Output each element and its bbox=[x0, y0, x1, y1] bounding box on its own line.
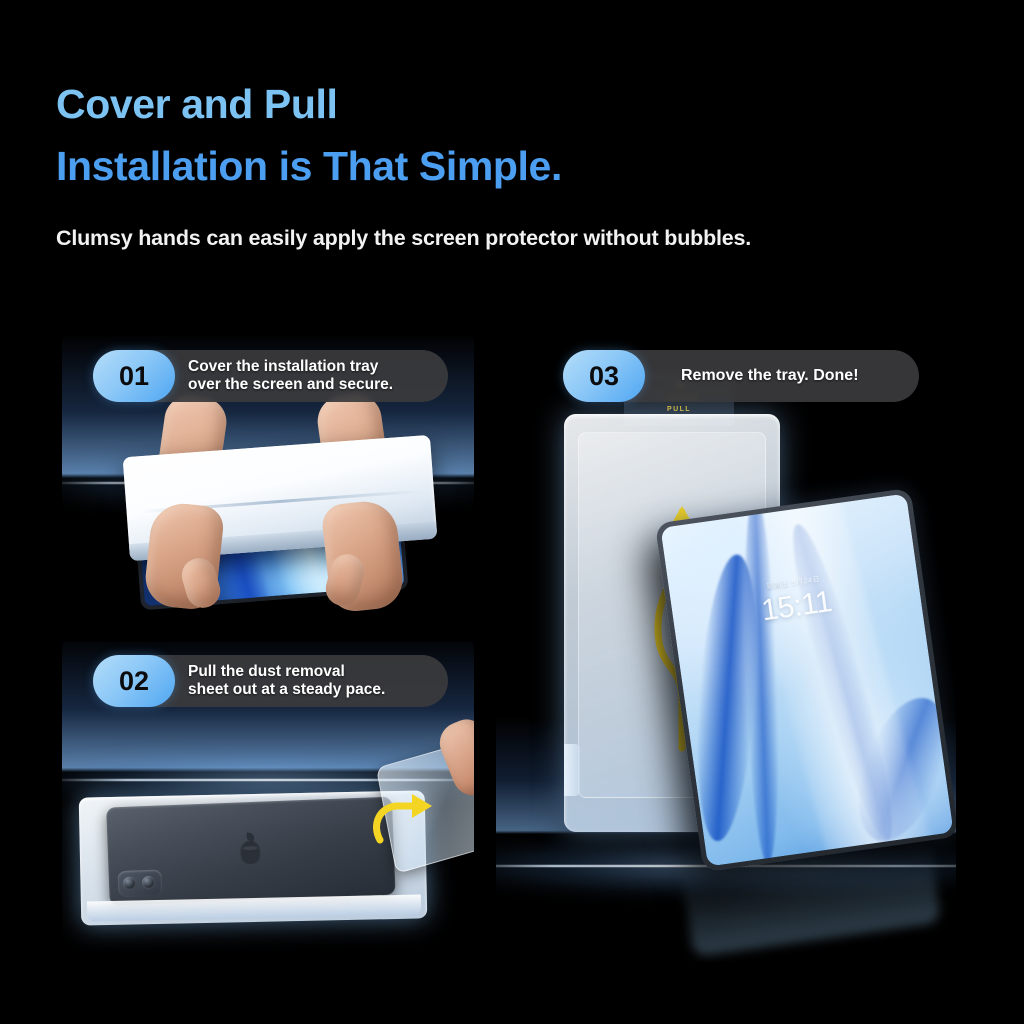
step-3-callout: 03 Remove the tray. Done! bbox=[563, 350, 919, 402]
tablet-device-step-3: 星期五 5月24日 15:11 bbox=[655, 488, 956, 872]
headline-line-1: Cover and Pull bbox=[56, 74, 562, 136]
step-1-line-2: over the screen and secure. bbox=[188, 376, 393, 394]
apple-logo-icon bbox=[239, 839, 261, 865]
camera-module-icon bbox=[118, 869, 163, 897]
step-2-line-2: sheet out at a steady pace. bbox=[188, 681, 385, 699]
step-1-callout: 01 Cover the installation tray over the … bbox=[93, 350, 448, 402]
step-3-image-panel: 一层保护膜 PULL baseus 星期五 5月24日 15:11 bbox=[496, 336, 956, 962]
step-1-number-badge: 01 bbox=[93, 350, 175, 402]
subtitle-text: Clumsy hands can easily apply the screen… bbox=[56, 226, 751, 251]
headline-block: Cover and Pull Installation is That Simp… bbox=[56, 74, 562, 197]
step-3-description: Remove the tray. Done! bbox=[645, 367, 859, 386]
headline-line-2: Installation is That Simple. bbox=[56, 136, 562, 198]
step-2-callout: 02 Pull the dust removal sheet out at a … bbox=[93, 655, 448, 707]
step-2-description: Pull the dust removal sheet out at a ste… bbox=[175, 663, 385, 700]
tablet-lock-screen: 星期五 5月24日 15:11 bbox=[660, 493, 953, 866]
step-2-number-badge: 02 bbox=[93, 655, 175, 707]
pull-direction-arrow-icon bbox=[370, 790, 436, 846]
pull-tab-label-en: PULL bbox=[667, 406, 691, 413]
step-3-number-badge: 03 bbox=[563, 350, 645, 402]
tablet-device-back-step-2 bbox=[106, 797, 396, 906]
step-1-description: Cover the installation tray over the scr… bbox=[175, 358, 393, 395]
step-2-line-1: Pull the dust removal bbox=[188, 663, 385, 681]
step-3-line-1: Remove the tray. Done! bbox=[681, 367, 859, 386]
step-1-line-1: Cover the installation tray bbox=[188, 358, 393, 376]
